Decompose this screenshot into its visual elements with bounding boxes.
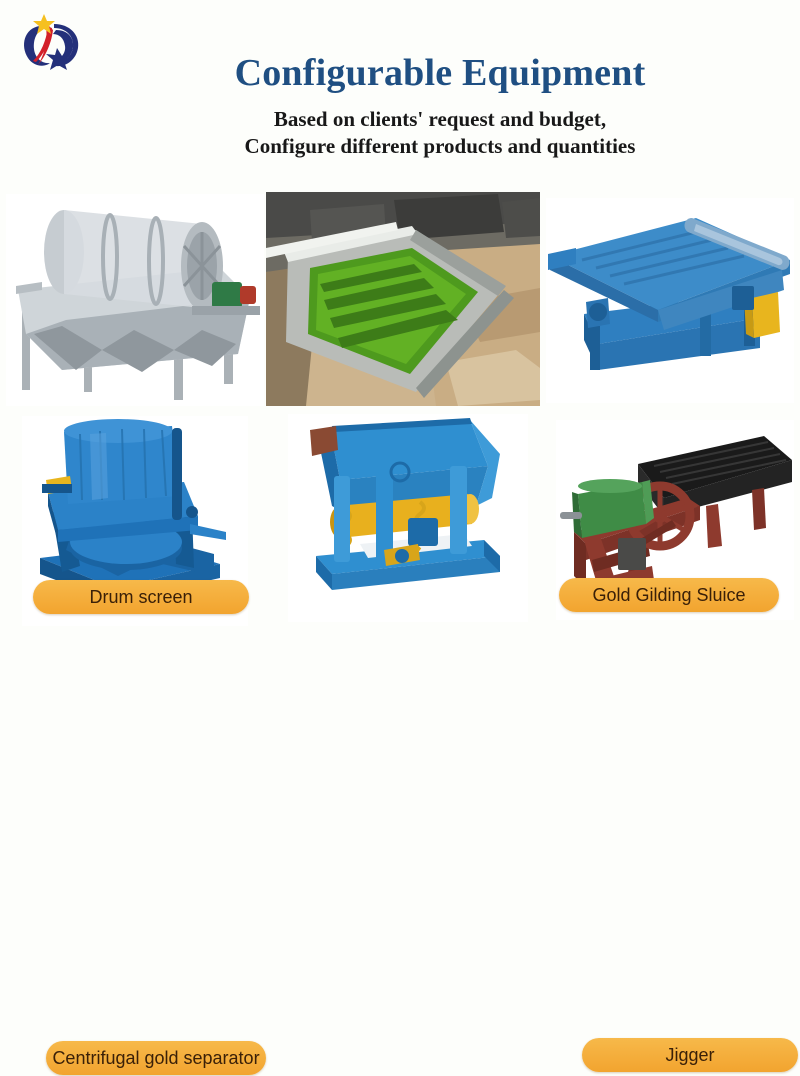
pulsating-sluice-box-photo [546,198,794,403]
product-label-jigger[interactable]: Jigger [582,1038,798,1072]
subtitle-line-1: Based on clients' request and budget, [90,106,790,133]
page-title: Configurable Equipment [90,54,790,94]
product-card-drum-screen[interactable]: Drum screen [6,194,264,406]
product-card-jigger[interactable]: Jigger [288,414,528,622]
poster-root: Configurable Equipment Based on clients'… [0,0,800,669]
product-label-gold-gilding-sluice[interactable]: Gold Gilding Sluice [559,578,779,612]
jq-star-logo [10,8,88,86]
product-card-pulsating-sluice-box[interactable]: Pulsating sluice box [546,198,794,403]
header-block: Configurable Equipment Based on clients'… [90,54,790,160]
drum-screen-photo [6,194,264,406]
page-subtitle: Based on clients' request and budget, Co… [90,106,790,160]
subtitle-line-2: Configure different products and quantit… [90,133,790,160]
product-label-drum-screen[interactable]: Drum screen [33,580,249,614]
product-label-centrifugal-gold-separator[interactable]: Centrifugal gold separator [46,1041,266,1075]
product-card-gold-gilding-sluice[interactable]: Gold Gilding Sluice [266,192,540,406]
product-grid: Drum screen [0,188,800,669]
gold-gilding-sluice-photo [266,192,540,406]
jigger-photo [288,414,528,622]
